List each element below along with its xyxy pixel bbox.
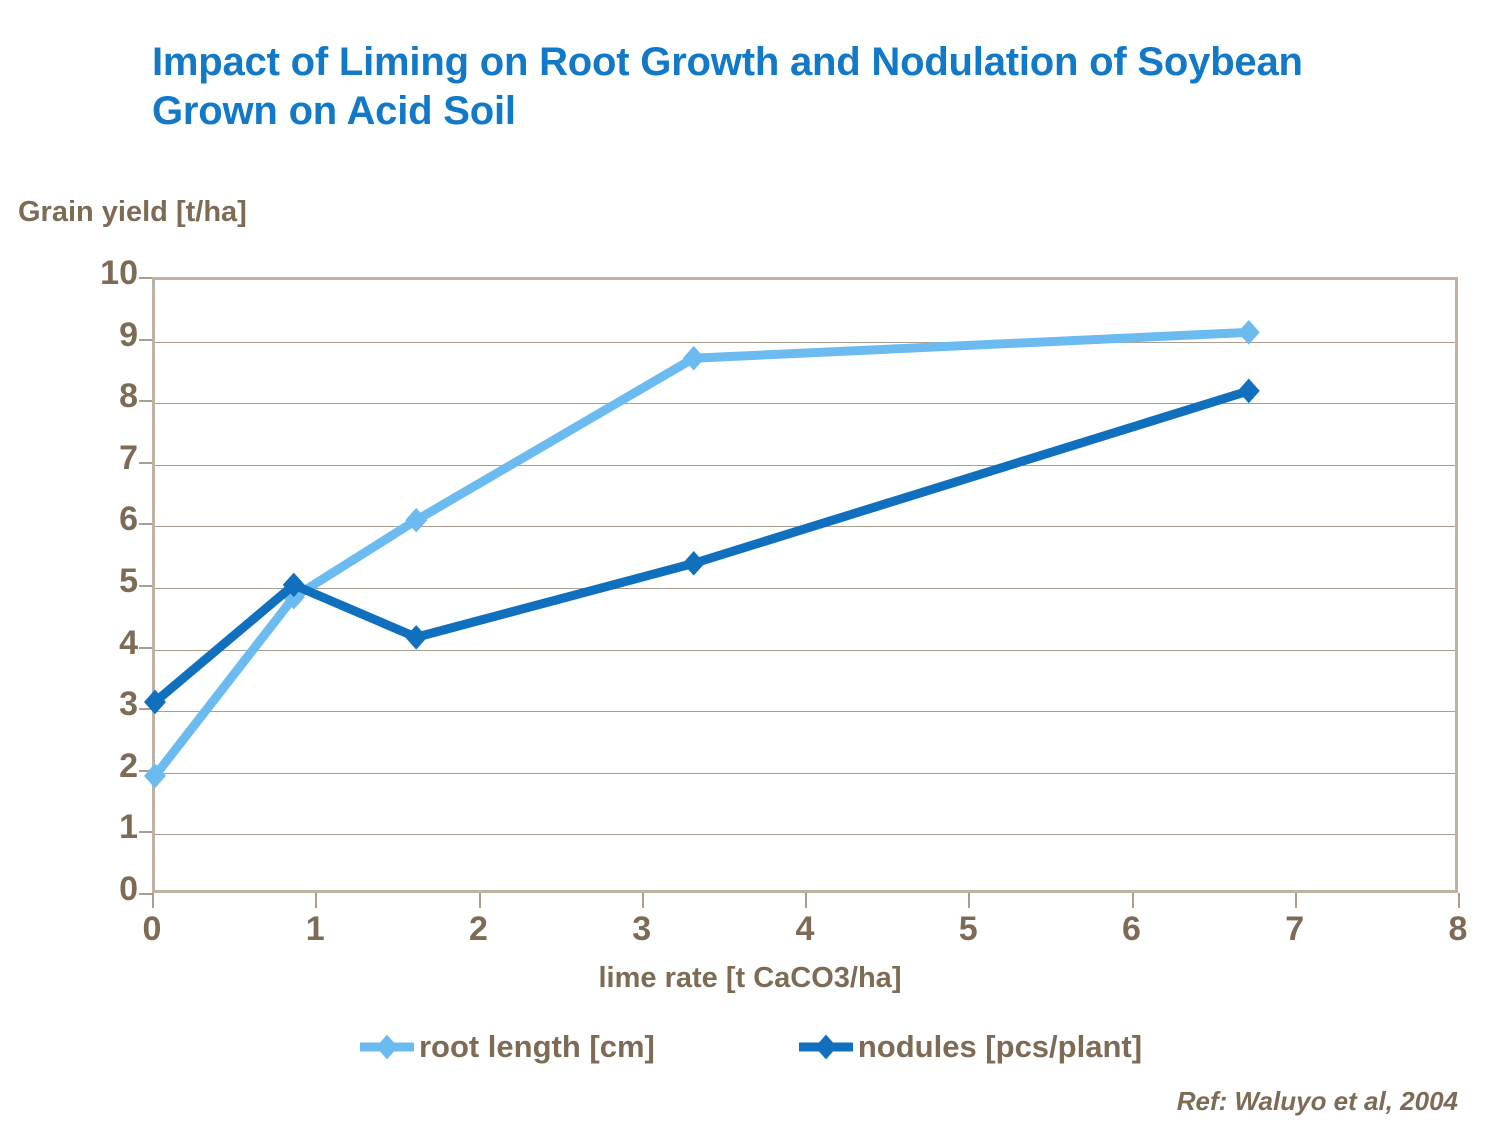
x-axis-tick-mark (1132, 893, 1134, 908)
legend-diamond-marker-icon (358, 1029, 416, 1065)
y-axis-tick-mark (139, 277, 153, 279)
data-point-marker (405, 625, 427, 650)
y-axis-tick-label: 7 (78, 439, 138, 478)
y-axis-tick-mark (139, 339, 153, 341)
y-axis-tick-label: 1 (78, 808, 138, 847)
x-axis-tick-label: 7 (1265, 910, 1325, 949)
x-axis-tick-label: 0 (122, 910, 182, 949)
x-axis-tick-mark (1458, 893, 1460, 908)
legend-item-label: root length [cm] (419, 1029, 655, 1065)
x-axis-tick-mark (805, 893, 807, 908)
y-axis-tick-mark (139, 462, 153, 464)
y-axis-tick-mark (139, 893, 153, 895)
data-point-marker (683, 551, 705, 576)
series-nodules (144, 379, 1260, 715)
series-line (155, 391, 1249, 702)
x-axis-tick-label: 3 (612, 910, 672, 949)
x-axis-tick-label: 2 (449, 910, 509, 949)
series-plot (155, 280, 1461, 896)
x-axis-tick-label: 1 (285, 910, 345, 949)
reference-note: Ref: Waluyo et al, 2004 (1177, 1086, 1458, 1117)
x-axis-tick-label: 8 (1428, 910, 1488, 949)
x-axis-tick-mark (968, 893, 970, 908)
y-axis-tick-mark (139, 523, 153, 525)
y-axis-tick-label: 9 (78, 316, 138, 355)
series-line (155, 332, 1249, 776)
legend-diamond-marker-icon (797, 1029, 855, 1065)
y-axis-tick-label: 4 (78, 624, 138, 663)
x-axis-tick-mark (479, 893, 481, 908)
plot-area (152, 277, 1458, 893)
x-axis-tick-label: 5 (938, 910, 998, 949)
y-axis-tick-label: 2 (78, 747, 138, 786)
y-axis-title: Grain yield [t/ha] (18, 196, 247, 229)
data-point-marker (1238, 320, 1260, 345)
data-point-marker (1238, 379, 1260, 404)
y-axis-tick-label: 8 (78, 377, 138, 416)
page-title: Impact of Liming on Root Growth and Nodu… (152, 38, 1422, 136)
chart-legend: root length [cm]nodules [pcs/plant] (0, 1029, 1500, 1065)
y-axis-tick-mark (139, 831, 153, 833)
y-axis-tick-label: 6 (78, 500, 138, 539)
legend-item-root-length[interactable]: root length [cm] (358, 1029, 655, 1065)
x-axis-tick-mark (315, 893, 317, 908)
legend-item-label: nodules [pcs/plant] (858, 1029, 1142, 1065)
x-axis-tick-mark (152, 893, 154, 908)
series-root-length (144, 320, 1260, 788)
x-axis-tick-mark (1295, 893, 1297, 908)
x-axis-title: lime rate [t CaCO3/ha] (0, 962, 1500, 995)
legend-item-nodules[interactable]: nodules [pcs/plant] (797, 1029, 1142, 1065)
y-axis-tick-mark (139, 400, 153, 402)
x-axis-tick-label: 6 (1102, 910, 1162, 949)
y-axis-tick-label: 10 (78, 254, 138, 293)
x-axis-tick-label: 4 (775, 910, 835, 949)
x-axis-tick-mark (642, 893, 644, 908)
y-axis-tick-label: 3 (78, 685, 138, 724)
y-axis-tick-label: 0 (78, 870, 138, 909)
y-axis-tick-label: 5 (78, 562, 138, 601)
y-axis-tick-mark (139, 647, 153, 649)
y-axis-tick-mark (139, 585, 153, 587)
